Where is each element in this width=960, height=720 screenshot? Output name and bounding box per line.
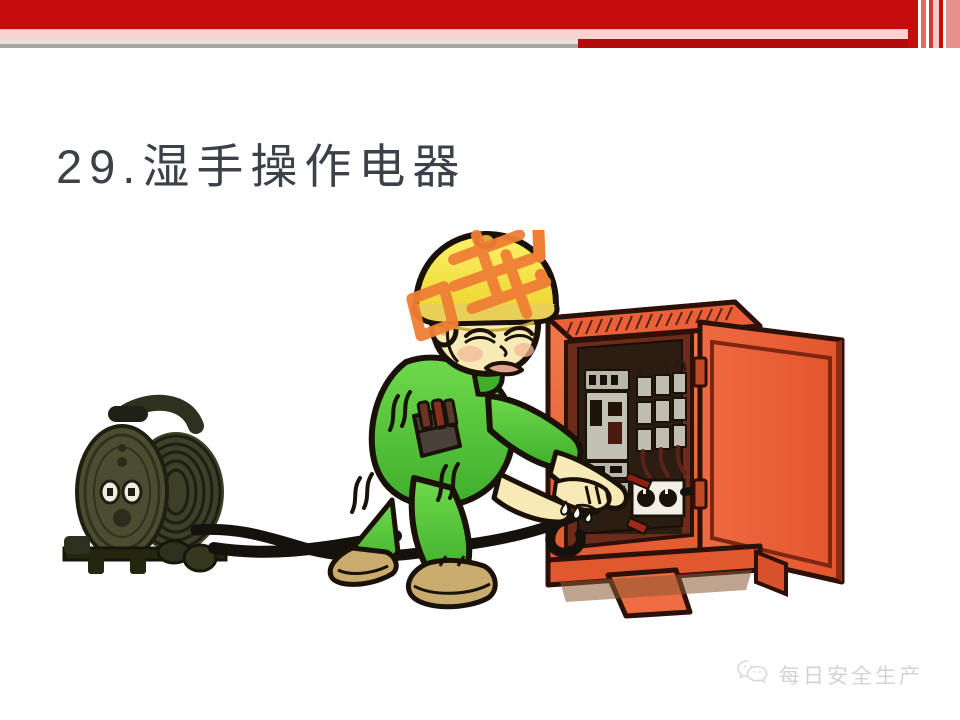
watermark-text: 每日安全生产 [779,660,923,690]
wechat-icon [736,658,770,691]
cabinet-door [694,322,842,582]
slide-canvas: 29.湿手操作电器 [0,0,960,720]
header-stripe [908,0,918,48]
watermark: 每日安全生产 [736,658,923,691]
header-dark-red-band [578,39,960,48]
header-pink-band [0,30,960,39]
header-red-band [0,0,960,30]
tool-pouch [414,399,460,456]
illustration [0,230,960,660]
header-gray-line [0,44,578,48]
header-stripe-decoration [908,0,960,48]
header-stripe [946,0,960,48]
cable-reel [64,403,226,574]
page-title: 29.湿手操作电器 [56,138,466,197]
